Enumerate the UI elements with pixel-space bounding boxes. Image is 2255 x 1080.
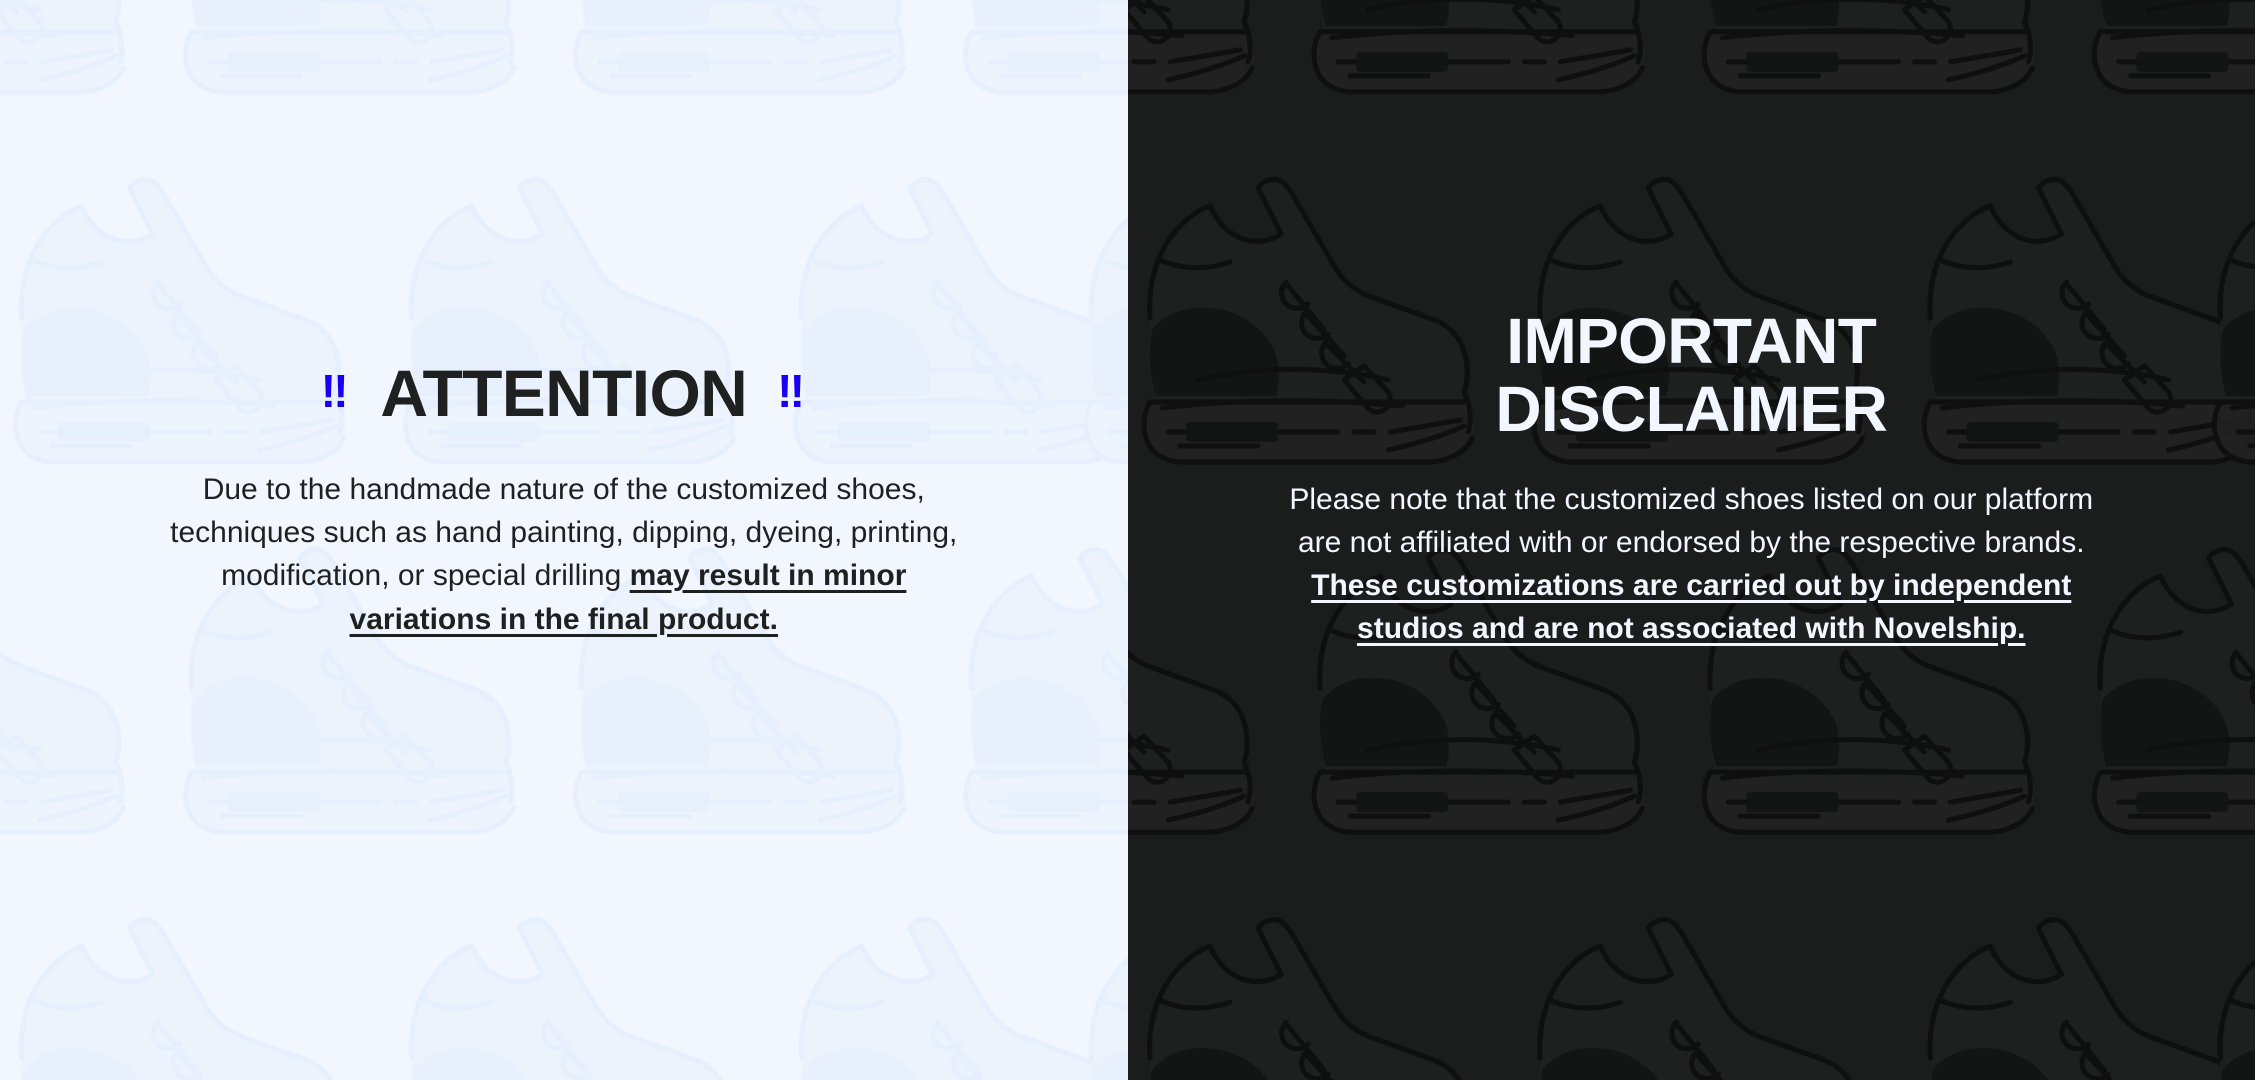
attention-heading: ‼ ATTENTION ‼ xyxy=(120,360,1008,426)
disclaimer-heading-line-1: IMPORTANT xyxy=(1506,305,1876,377)
attention-content: ‼ ATTENTION ‼ Due to the handmade nature… xyxy=(0,0,1128,641)
disclaimer-heading-line-2: DISCLAIMER xyxy=(1495,373,1887,445)
disclaimer-heading: IMPORTANT DISCLAIMER xyxy=(1238,308,2146,444)
disclaimer-body-emphasis: These customizations are carried out by … xyxy=(1311,569,2071,645)
disclaimer-content: IMPORTANT DISCLAIMER Please note that th… xyxy=(1128,0,2255,650)
attention-heading-text: ATTENTION xyxy=(380,360,747,426)
attention-body: Due to the handmade nature of the custom… xyxy=(164,468,964,641)
disclaimer-body-normal: Please note that the customized shoes li… xyxy=(1289,483,2093,559)
double-exclamation-left-icon: ‼ xyxy=(321,368,351,414)
customization-notice-banner: ‼ ATTENTION ‼ Due to the handmade nature… xyxy=(0,0,2255,1080)
disclaimer-panel: IMPORTANT DISCLAIMER Please note that th… xyxy=(1128,0,2255,1080)
disclaimer-body: Please note that the customized shoes li… xyxy=(1286,478,2096,651)
attention-panel: ‼ ATTENTION ‼ Due to the handmade nature… xyxy=(0,0,1128,1080)
double-exclamation-right-icon: ‼ xyxy=(777,368,807,414)
